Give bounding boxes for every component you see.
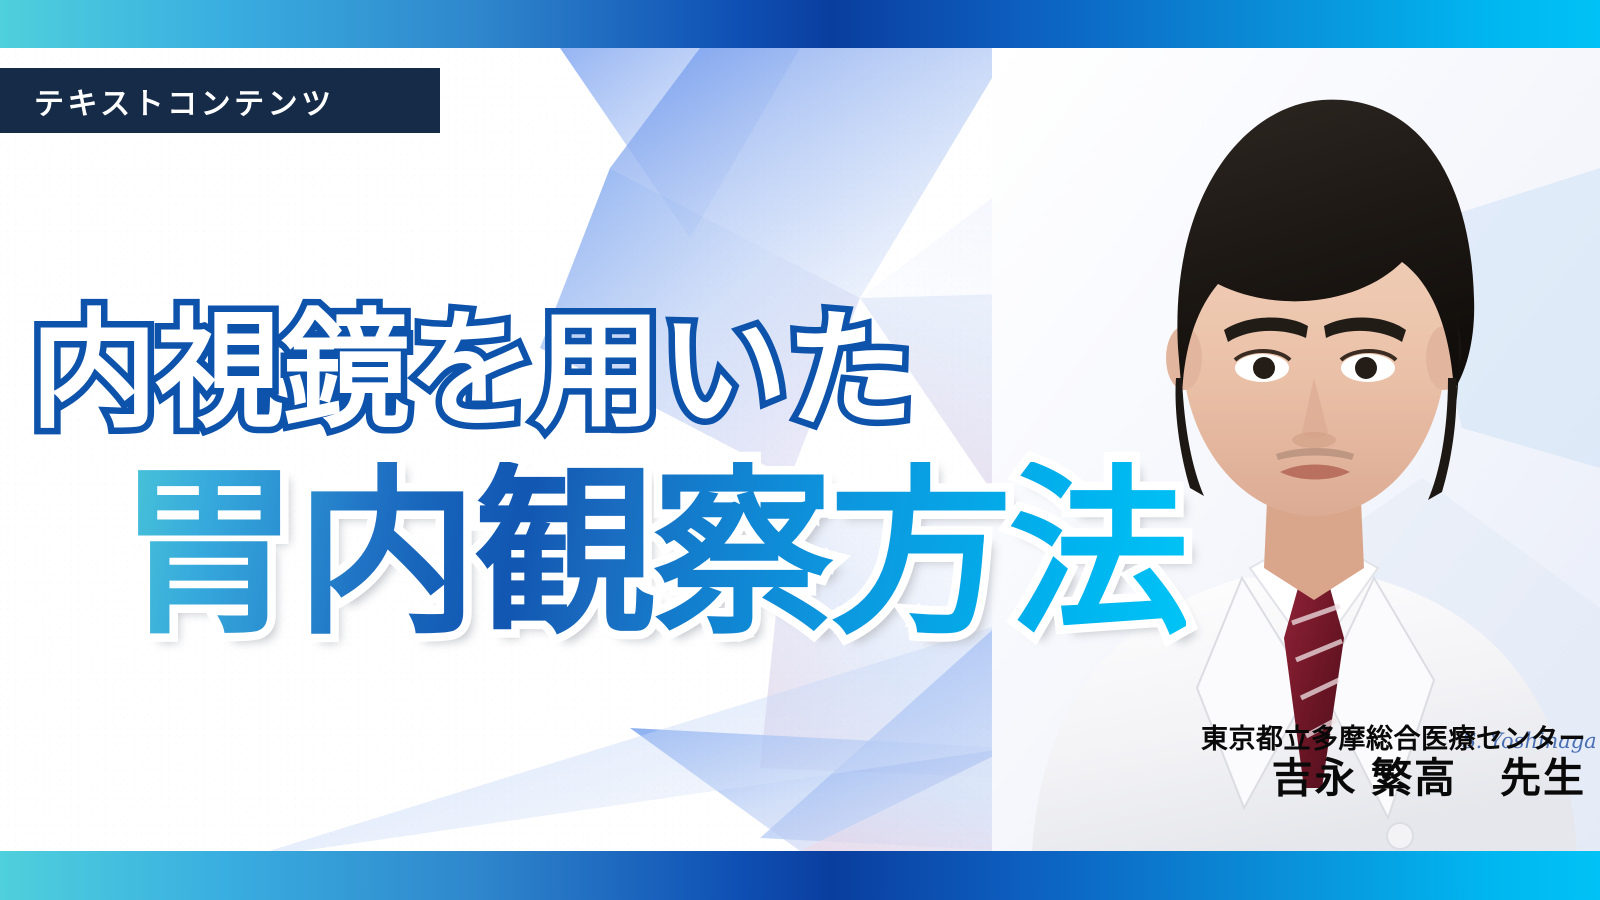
presenter-photo: S. Yoshinaga [992, 48, 1600, 851]
presenter-affiliation: 東京都立多摩総合医療センター [1201, 726, 1586, 753]
category-badge: テキストコンテンツ [0, 68, 440, 133]
category-badge-label: テキストコンテンツ [0, 79, 335, 123]
bottom-gradient-fill [0, 851, 1600, 900]
top-gradient-bar [0, 0, 1600, 48]
presenter-caption: 東京都立多摩総合医療センター 吉永 繁高 先生 [1201, 726, 1586, 799]
bottom-gradient-bar [0, 851, 1600, 900]
banner-canvas: S. Yoshinaga [0, 0, 1600, 900]
presenter-name: 吉永 繁高 先生 [1201, 758, 1586, 799]
top-gradient-fill [0, 0, 1600, 48]
